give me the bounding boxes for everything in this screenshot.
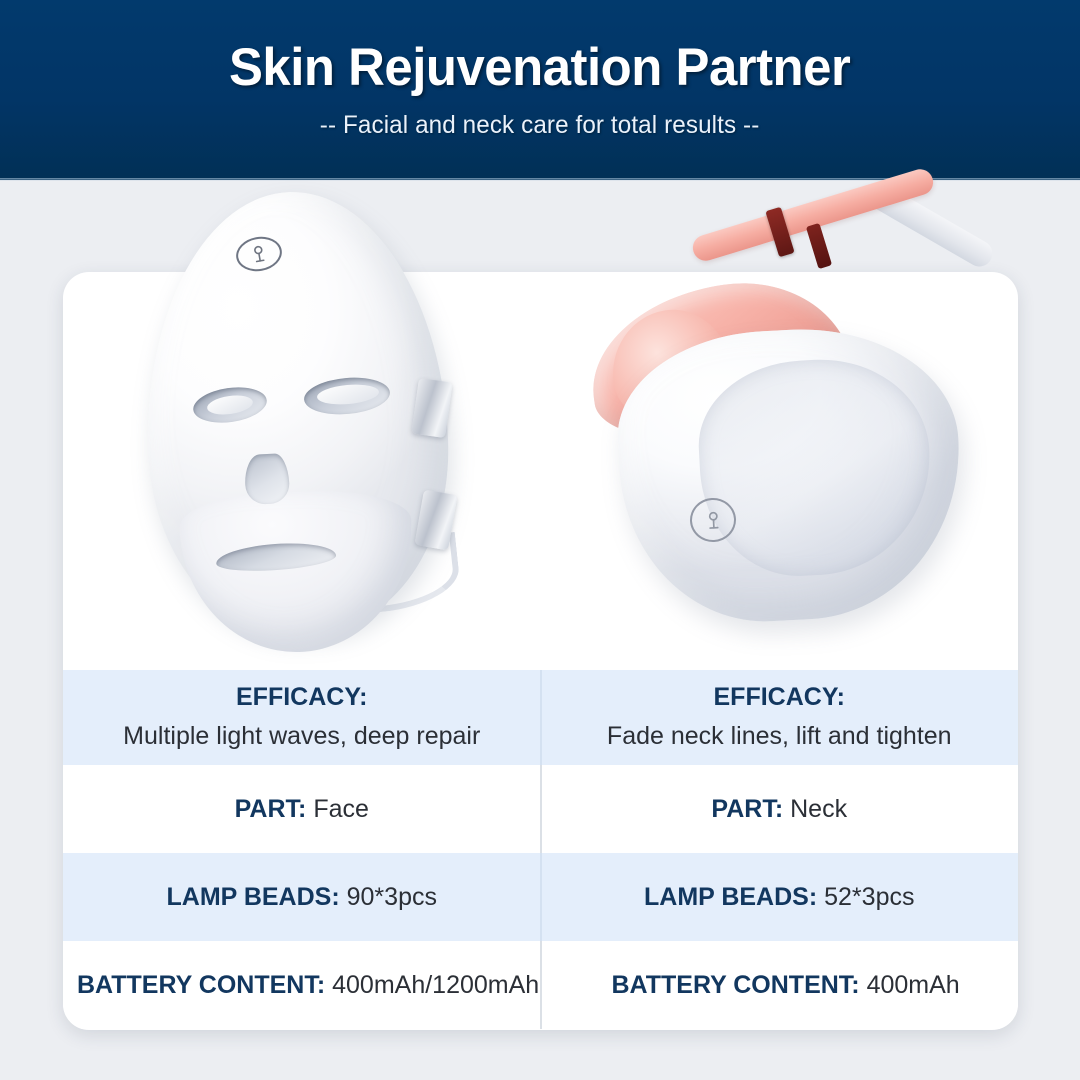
lamp-value-left: 90*3pcs xyxy=(347,883,437,911)
spec-cell-part-left: PART: Face xyxy=(63,765,541,853)
battery-value-left: 400mAh/1200mAh xyxy=(332,971,539,999)
spec-row-battery: BATTERY CONTENT: 400mAh/1200mAh BATTERY … xyxy=(63,941,1018,1029)
spec-cell-battery-right: BATTERY CONTENT: 400mAh xyxy=(553,941,1018,1029)
strap-buckle-lower xyxy=(806,223,832,269)
column-divider xyxy=(540,765,542,853)
part-value-right: Neck xyxy=(790,795,847,823)
column-divider xyxy=(540,853,542,941)
lamp-label-left: LAMP BEADS: xyxy=(167,883,340,911)
efficacy-value-left: Multiple light waves, deep repair xyxy=(123,721,480,752)
part-left: PART: Face xyxy=(235,794,369,824)
header-banner: Skin Rejuvenation Partner -- Facial and … xyxy=(0,0,1080,180)
column-divider xyxy=(540,941,542,1029)
spec-cell-battery-left: BATTERY CONTENT: 400mAh/1200mAh xyxy=(63,941,553,1029)
part-label-left: PART: xyxy=(235,795,307,823)
efficacy-label-right: EFFICACY: xyxy=(714,682,845,712)
part-right: PART: Neck xyxy=(711,794,847,824)
spec-cell-lamp-right: LAMP BEADS: 52*3pcs xyxy=(541,853,1019,941)
column-divider xyxy=(540,670,542,765)
battery-right: BATTERY CONTENT: 400mAh xyxy=(611,970,959,1000)
spec-row-efficacy: EFFICACY: Multiple light waves, deep rep… xyxy=(63,670,1018,765)
battery-label-right: BATTERY CONTENT: xyxy=(611,971,859,999)
efficacy-label-left: EFFICACY: xyxy=(236,682,367,712)
part-value-left: Face xyxy=(313,795,369,823)
efficacy-value-right: Fade neck lines, lift and tighten xyxy=(607,721,952,752)
battery-label-left: BATTERY CONTENT: xyxy=(77,971,325,999)
battery-value-right: 400mAh xyxy=(867,971,960,999)
spec-cell-efficacy-right: EFFICACY: Fade neck lines, lift and tigh… xyxy=(541,670,1019,765)
battery-left: BATTERY CONTENT: 400mAh/1200mAh xyxy=(77,970,539,1000)
spec-table: EFFICACY: Multiple light waves, deep rep… xyxy=(63,670,1018,1030)
banner-bottom-edge xyxy=(0,178,1080,181)
page-subtitle: -- Facial and neck care for total result… xyxy=(320,111,760,140)
spec-cell-part-right: PART: Neck xyxy=(541,765,1019,853)
lamp-label-right: LAMP BEADS: xyxy=(644,883,817,911)
lamp-left: LAMP BEADS: 90*3pcs xyxy=(167,882,437,912)
power-button-icon xyxy=(233,233,284,274)
product-comparison-card: EFFICACY: Multiple light waves, deep rep… xyxy=(63,272,1018,1030)
lamp-value-right: 52*3pcs xyxy=(824,883,914,911)
lamp-right: LAMP BEADS: 52*3pcs xyxy=(644,882,914,912)
neck-strap-white-section xyxy=(863,179,997,272)
spec-cell-efficacy-left: EFFICACY: Multiple light waves, deep rep… xyxy=(63,670,541,765)
page-title: Skin Rejuvenation Partner xyxy=(229,40,850,96)
spec-row-part: PART: Face PART: Neck xyxy=(63,765,1018,853)
part-label-right: PART: xyxy=(711,795,783,823)
strap-buckle-upper xyxy=(765,207,794,258)
spec-row-lamp-beads: LAMP BEADS: 90*3pcs LAMP BEADS: 52*3pcs xyxy=(63,853,1018,941)
spec-cell-lamp-left: LAMP BEADS: 90*3pcs xyxy=(63,853,541,941)
